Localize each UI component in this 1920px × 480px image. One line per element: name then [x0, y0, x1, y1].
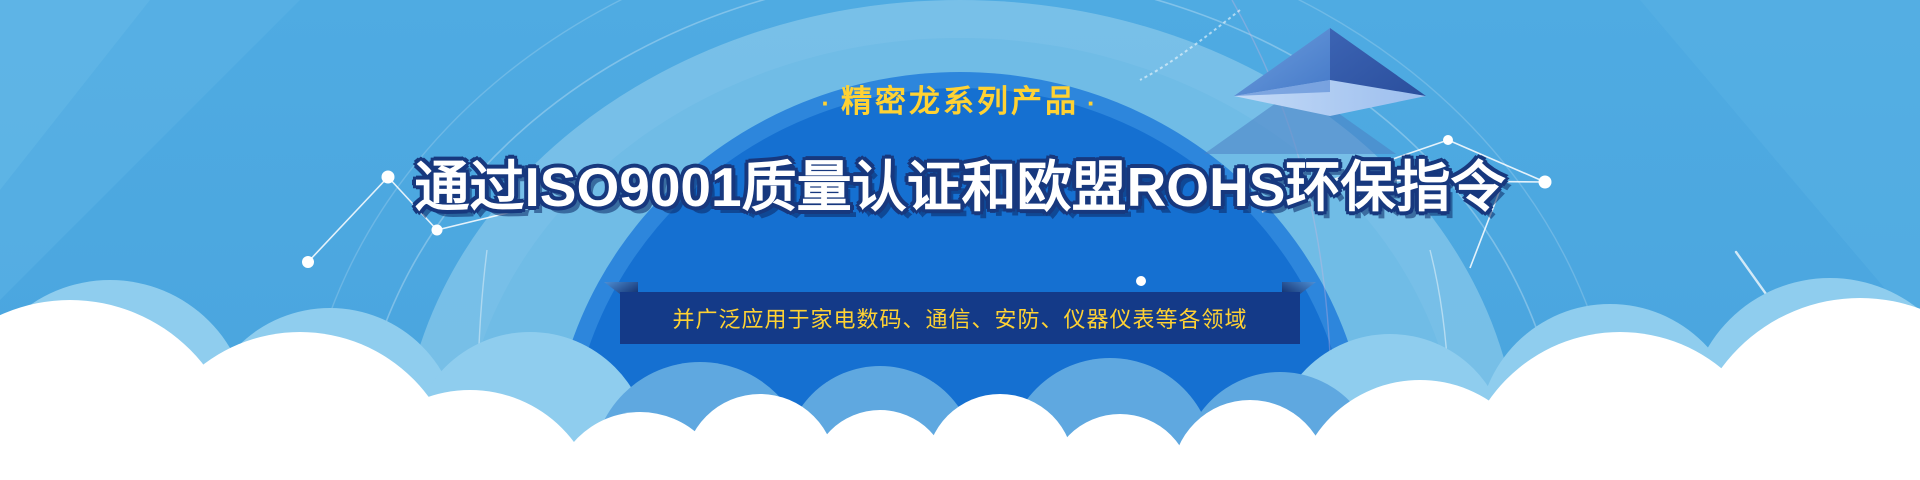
banner-headline: 通过ISO9001质量认证和欧盟ROHS环保指令: [0, 142, 1920, 222]
eyebrow-text: 精密龙系列产品: [841, 84, 1079, 119]
eyebrow-left-dot: ·: [813, 88, 841, 118]
ribbon-text: 并广泛应用于家电数码、通信、安防、仪器仪表等各领域: [672, 302, 1247, 334]
banner-ribbon: 并广泛应用于家电数码、通信、安防、仪器仪表等各领域: [620, 292, 1300, 344]
banner-eyebrow: ·精密龙系列产品·: [0, 76, 1920, 121]
cloud-band-front: [0, 0, 1920, 480]
ribbon-body: 并广泛应用于家电数码、通信、安防、仪器仪表等各领域: [620, 292, 1300, 344]
promo-banner: ·精密龙系列产品· 通过ISO9001质量认证和欧盟ROHS环保指令 并广泛应用…: [0, 0, 1920, 480]
eyebrow-right-dot: ·: [1079, 88, 1107, 118]
